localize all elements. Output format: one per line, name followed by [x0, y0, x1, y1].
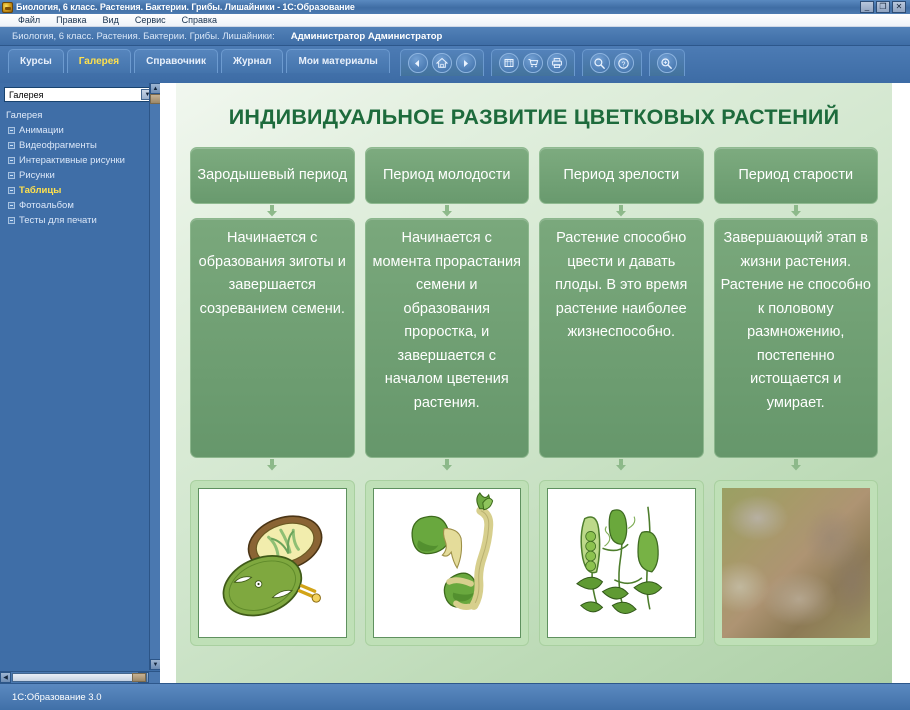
sidebar-item-label: Таблицы [19, 183, 61, 198]
sidebar-item-animations[interactable]: Анимации [6, 123, 160, 138]
gallery-sidebar: Галерея ▼ Галерея Анимации Видеофрагмент… [0, 83, 160, 683]
fullscreen-icon[interactable] [499, 53, 519, 73]
arrow-down-icon [714, 204, 879, 218]
stage-image-frame[interactable] [365, 480, 530, 646]
stage-image-frame[interactable] [190, 480, 355, 646]
sidebar-item-pictures[interactable]: Рисунки [6, 168, 160, 183]
help-icon[interactable]: ? [614, 53, 634, 73]
arrow-down-icon [365, 204, 530, 218]
navigation-button-group [400, 49, 484, 76]
expander-icon[interactable] [8, 157, 15, 164]
withered-dried-plant-photo [722, 488, 871, 638]
stage-columns: Зародышевый период Начинается с образова… [190, 147, 878, 683]
back-icon[interactable] [408, 53, 428, 73]
app-book-icon [2, 2, 13, 13]
stage-heading: Период зрелости [539, 147, 704, 204]
main-toolbar: Курсы Галерея Справочник Журнал Мои мате… [0, 46, 910, 83]
withered-plant-image [722, 488, 871, 638]
zoom-group [649, 49, 685, 76]
tab-courses[interactable]: Курсы [8, 49, 64, 73]
scroll-left-icon[interactable]: ◀ [0, 672, 11, 683]
seed-cross-section-diagram [198, 488, 347, 638]
forward-icon[interactable] [456, 53, 476, 73]
svg-text:?: ? [622, 61, 626, 68]
cart-icon[interactable] [523, 53, 543, 73]
sidebar-item-label: Видеофрагменты [19, 138, 97, 153]
germinating-seedling-diagram [373, 488, 522, 638]
page-title: ИНДИВИДУАЛЬНОЕ РАЗВИТИЕ ЦВЕТКОВЫХ РАСТЕН… [190, 105, 878, 130]
sidebar-item-label: Рисунки [19, 168, 55, 183]
pea-plant-with-pods-drawing [547, 488, 696, 638]
tree-root-label: Галерея [6, 110, 160, 121]
sidebar-item-photo-album[interactable]: Фотоальбом [6, 198, 160, 213]
arrow-down-icon [190, 204, 355, 218]
tab-my-materials[interactable]: Мои материалы [286, 49, 389, 73]
gallery-tree: Галерея Анимации Видеофрагменты Интеракт… [0, 104, 160, 683]
stage-description: Растение способно цвести и давать плоды.… [539, 218, 704, 458]
sidebar-item-print-tests[interactable]: Тесты для печати [6, 213, 160, 228]
expander-icon[interactable] [8, 142, 15, 149]
sidebar-item-video[interactable]: Видеофрагменты [6, 138, 160, 153]
section-select[interactable]: Галерея ▼ [4, 87, 156, 102]
stage-image-frame[interactable] [539, 480, 704, 646]
sidebar-item-label: Интерактивные рисунки [19, 153, 125, 168]
stage-heading: Период старости [714, 147, 879, 204]
close-button[interactable]: ✕ [892, 1, 906, 13]
expander-icon[interactable] [8, 202, 15, 209]
tab-gallery[interactable]: Галерея [67, 49, 131, 73]
arrow-down-icon [714, 458, 879, 472]
expander-icon[interactable] [8, 127, 15, 134]
search-help-group: ? [582, 49, 642, 76]
print-icon[interactable] [547, 53, 567, 73]
sidebar-item-interactive-pictures[interactable]: Интерактивные рисунки [6, 153, 160, 168]
sidebar-hscroll-grip[interactable] [132, 673, 146, 682]
home-icon[interactable] [432, 53, 452, 73]
arrow-down-icon [539, 458, 704, 472]
stage-column-maturity: Период зрелости Растение способно цвести… [539, 147, 704, 683]
menu-item-edit[interactable]: Правка [56, 15, 86, 25]
sidebar-item-tables[interactable]: Таблицы [6, 183, 160, 198]
window-controls: _ ❐ ✕ [860, 1, 908, 13]
current-user-label: Администратор Администратор [291, 31, 443, 42]
arrow-down-icon [539, 204, 704, 218]
menu-item-file[interactable]: Файл [18, 15, 40, 25]
expander-icon[interactable] [8, 217, 15, 224]
tab-journal[interactable]: Журнал [221, 49, 284, 73]
stage-description: Начинается с образования зиготы и заверш… [190, 218, 355, 458]
sidebar-item-label: Фотоальбом [19, 198, 74, 213]
stage-heading: Период молодости [365, 147, 530, 204]
sidebar-item-label: Тесты для печати [19, 213, 97, 228]
stage-column-old-age: Период старости Завершающий этап в жизни… [714, 147, 879, 683]
course-user-bar: Биология, 6 класс. Растения. Бактерии. Г… [0, 27, 910, 46]
tab-reference[interactable]: Справочник [134, 49, 218, 73]
arrow-down-icon [190, 458, 355, 472]
arrow-down-icon [365, 458, 530, 472]
sidebar-horizontal-scrollbar[interactable]: ◀ ▶ [0, 671, 160, 683]
course-breadcrumb: Биология, 6 класс. Растения. Бактерии. Г… [12, 31, 275, 42]
sidebar-item-label: Анимации [19, 123, 64, 138]
stage-column-embryonic: Зародышевый период Начинается с образова… [190, 147, 355, 683]
menu-item-help[interactable]: Справка [182, 15, 217, 25]
expander-icon[interactable] [8, 172, 15, 179]
menu-bar: Файл Правка Вид Сервис Справка [0, 14, 910, 27]
zoom-search-icon[interactable] [657, 53, 677, 73]
stage-description: Начинается с момента прорастания семени … [365, 218, 530, 458]
status-text: 1С:Образование 3.0 [12, 692, 102, 703]
application-window: Биология, 6 класс. Растения. Бактерии. Г… [0, 0, 910, 710]
menu-item-service[interactable]: Сервис [135, 15, 166, 25]
stage-column-youth: Период молодости Начинается с момента пр… [365, 147, 530, 683]
section-select-value: Галерея [9, 90, 44, 100]
stage-image-frame[interactable] [714, 480, 879, 646]
sidebar-vertical-scrollbar[interactable]: ▲ ▼ [149, 83, 160, 670]
sidebar-hscroll-thumb[interactable] [12, 673, 147, 682]
stage-description: Завершающий этап в жизни растения. Расте… [714, 218, 879, 458]
status-bar: 1С:Образование 3.0 [0, 683, 910, 710]
stage-heading: Зародышевый период [190, 147, 355, 204]
expander-icon[interactable] [8, 187, 15, 194]
table-poster: ИНДИВИДУАЛЬНОЕ РАЗВИТИЕ ЦВЕТКОВЫХ РАСТЕН… [176, 83, 892, 683]
window-title: Биология, 6 класс. Растения. Бактерии. Г… [16, 2, 355, 12]
view-action-group [491, 49, 575, 76]
menu-item-view[interactable]: Вид [103, 15, 119, 25]
search-icon[interactable] [590, 53, 610, 73]
content-area: ИНДИВИДУАЛЬНОЕ РАЗВИТИЕ ЦВЕТКОВЫХ РАСТЕН… [160, 83, 910, 683]
maximize-button[interactable]: ❐ [876, 1, 890, 13]
title-bar: Биология, 6 класс. Растения. Бактерии. Г… [0, 0, 910, 14]
minimize-button[interactable]: _ [860, 1, 874, 13]
